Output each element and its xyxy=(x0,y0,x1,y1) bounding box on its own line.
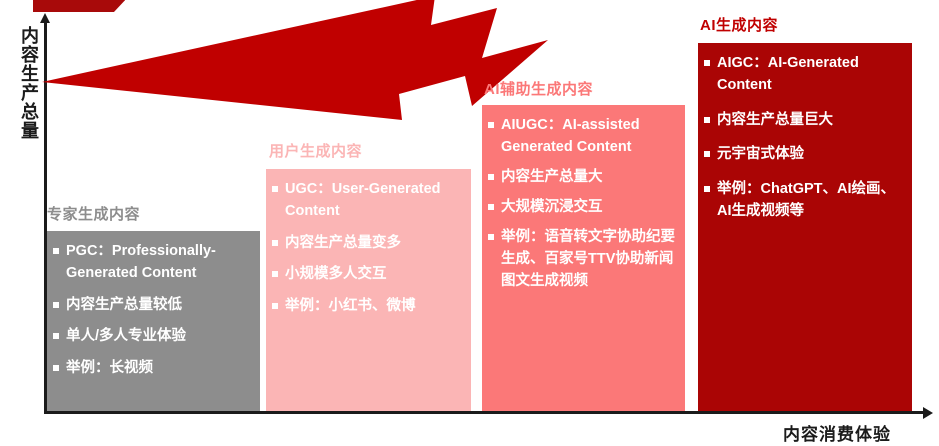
bullet-list-aiugc: AIUGC：AI-assisted Generated Content 内容生产… xyxy=(488,114,678,292)
corner-tab-decoration xyxy=(33,0,125,12)
column-ugc: UGC：User-Generated Content 内容生产总量变多 小规模多… xyxy=(266,169,471,411)
column-header-aiugc: AI辅助生成内容 xyxy=(484,78,593,99)
x-axis xyxy=(44,411,924,414)
list-item: PGC：Professionally-Generated Content xyxy=(53,240,253,285)
y-axis-label: 内容生产总量 xyxy=(8,26,38,140)
column-header-pgc: 专家生成内容 xyxy=(47,203,140,224)
list-item: 大规模沉浸交互 xyxy=(488,196,678,218)
list-item: 内容生产总量巨大 xyxy=(704,109,905,131)
list-item: 内容生产总量大 xyxy=(488,166,678,188)
arrow-shape-icon xyxy=(42,0,548,120)
bullet-list-aigc: AIGC：AI-Generated Content 内容生产总量巨大 元宇宙式体… xyxy=(704,52,905,223)
list-item: UGC：User-Generated Content xyxy=(272,178,464,223)
column-pgc: PGC：Professionally-Generated Content 内容生… xyxy=(47,231,260,411)
list-item: 小规模多人交互 xyxy=(272,263,464,285)
bullet-list-pgc: PGC：Professionally-Generated Content 内容生… xyxy=(53,240,253,379)
banner-text: 人工智能技术驱动下，数字内容生产方式向更高效迈进 xyxy=(100,0,499,63)
infographic-canvas: 内容生产总量 内容消费体验 人工智能技术驱动下，数字内容生产方式向更高效迈进 专… xyxy=(0,0,939,446)
list-item: 举例：ChatGPT、AI绘画、AI生成视频等 xyxy=(704,178,905,223)
bullet-list-ugc: UGC：User-Generated Content 内容生产总量变多 小规模多… xyxy=(272,178,464,317)
list-item: 举例：语音转文字协助纪要生成、百家号TTV协助新闻图文生成视频 xyxy=(488,226,678,292)
list-item: 举例：长视频 xyxy=(53,357,253,379)
list-item: 举例：小红书、微博 xyxy=(272,295,464,317)
column-header-aigc: AI生成内容 xyxy=(700,14,778,35)
list-item: AIUGC：AI-assisted Generated Content xyxy=(488,114,678,158)
list-item: 内容生产总量变多 xyxy=(272,232,464,254)
list-item: AIGC：AI-Generated Content xyxy=(704,52,905,97)
column-aiugc: AIUGC：AI-assisted Generated Content 内容生产… xyxy=(482,105,685,411)
trend-arrow-banner: 人工智能技术驱动下，数字内容生产方式向更高效迈进 xyxy=(42,0,548,120)
x-axis-label: 内容消费体验 xyxy=(783,420,891,445)
column-aigc: AIGC：AI-Generated Content 内容生产总量巨大 元宇宙式体… xyxy=(698,43,912,411)
list-item: 单人/多人专业体验 xyxy=(53,325,253,347)
list-item: 元宇宙式体验 xyxy=(704,143,905,165)
column-header-ugc: 用户生成内容 xyxy=(269,140,362,161)
list-item: 内容生产总量较低 xyxy=(53,294,253,316)
